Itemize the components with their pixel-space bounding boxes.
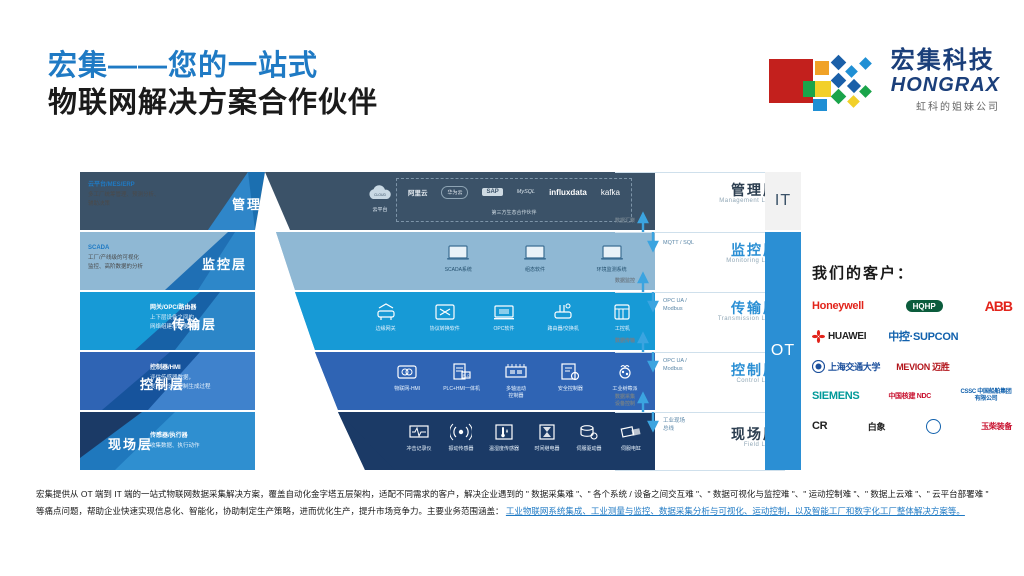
- partner-mysql: MySQL: [517, 189, 535, 195]
- partner-box-label: 第三方生态合作伙伴: [397, 209, 631, 216]
- connector-down-label: OPC UA / Modbus: [663, 298, 687, 313]
- control-item: 多轴运动 控制器: [489, 361, 543, 400]
- footer-text-part2: 等痛点问题，帮助企业快速实现信息化、智能化，协助制定生产策略，进而优化生产，提升…: [36, 506, 504, 516]
- page-title-line2: 物联网解决方案合作伙伴: [48, 84, 378, 122]
- customer-logo-row: SIEMENS 中国核建 NDC CSSC 中国船舶集团有限公司: [812, 387, 1012, 405]
- partner-sap: SAP: [482, 188, 502, 196]
- field-caption: 冲击记录仪: [407, 446, 432, 453]
- customer-logo-row: CR 白象 航天 玉柴装备: [812, 417, 1012, 435]
- transmission-item: 边缘网关: [358, 301, 414, 333]
- tier-desc-body: 收集数据、执行动作: [150, 442, 254, 451]
- customer-logo-cssc: CSSC 中国船舶集团有限公司: [960, 387, 1012, 405]
- tier-label-management: 管理层: [232, 194, 277, 213]
- tier-label-monitoring: 监控层: [202, 254, 247, 273]
- customer-logo-row: Honeywell HQHP ABB: [812, 297, 1012, 315]
- control-caption: 多轴运动 控制器: [506, 386, 526, 400]
- transmission-item: OPC软件: [476, 301, 532, 333]
- control-caption: 安全控制器: [558, 386, 583, 393]
- plc-icon: PLC: [449, 361, 475, 383]
- partner-huaweicloud: 华为云: [441, 186, 468, 199]
- footer-link[interactable]: 工业物联网系统集成、工业测量与监控、数据采集分析与可视化、运动控制，以及智能工厂…: [506, 506, 965, 516]
- control-caption: PLC+HMI一体机: [443, 386, 480, 393]
- tier-label-transmission: 传输层: [172, 314, 217, 333]
- control-item: PLC PLC+HMI一体机: [434, 361, 488, 393]
- logo-mark-icon: [769, 55, 879, 107]
- customers-title: 我们的客户：: [812, 262, 1012, 283]
- opc-software-icon: [491, 301, 517, 323]
- tier-desc-body: 多工厂统筹管理、预测分析、 辅助决策: [88, 191, 234, 208]
- customers-panel: 我们的客户： Honeywell HQHP ABB HUAWEI 中控·SUPC…: [812, 262, 1012, 447]
- logo-text: 宏集科技 HONGRAX 虹科的姐妹公司: [891, 48, 1000, 113]
- customer-logo-cr: CR: [812, 417, 827, 435]
- cloud-icon: CLOUD: [367, 182, 393, 204]
- customer-logo-row: 上海交通大学 MEVION 迈胜: [812, 357, 1012, 375]
- laptop-icon: [445, 242, 471, 264]
- customer-logo-hqhp: HQHP: [906, 297, 943, 315]
- field-item: 振动传感器: [440, 421, 482, 453]
- connector-up-label: 数据汇聚: [615, 218, 635, 225]
- control-caption: 物联网-HMI: [394, 386, 420, 393]
- connector-up-label: 数据监控: [615, 278, 635, 285]
- transmission-caption: 协议转换软件: [430, 326, 460, 333]
- brand-name-en: HONGRAX: [891, 74, 1000, 97]
- tier-desc-title: SCADA: [88, 244, 234, 253]
- protocol-convert-icon: [432, 301, 458, 323]
- control-item: 安全控制器: [543, 361, 597, 393]
- connector-arrows: [615, 172, 785, 472]
- domain-ot: OT: [765, 232, 801, 470]
- partner-influxdata: influxdata: [549, 188, 587, 197]
- page-header: 宏集——您的一站式 物联网解决方案合作伙伴 宏集科技 HONGRAX 虹科的姐妹…: [0, 0, 1024, 140]
- field-caption: 伺服驱动器: [576, 446, 601, 453]
- time-relay-icon: [534, 421, 560, 443]
- transmission-caption: 边缘网关: [376, 326, 396, 333]
- customer-logo-row: HUAWEI 中控·SUPCON: [812, 327, 1012, 345]
- monitoring-caption: SCADA系统: [445, 267, 472, 274]
- company-logo: 宏集科技 HONGRAX 虹科的姐妹公司: [769, 48, 1000, 113]
- transmission-caption: 路由器/交换机: [547, 326, 578, 333]
- field-caption: 温湿度传感器: [489, 446, 519, 453]
- monitoring-item: 组态软件: [507, 242, 563, 274]
- customer-logo-baixiang: 白象: [868, 417, 885, 435]
- pyramid-tier-field: 传感器/执行器 收集数据、执行动作 现场层 冲击记录仪 振动传感器: [80, 412, 655, 470]
- tier-desc-title: 云平台/MES/ERP: [88, 181, 234, 190]
- transmission-item: 路由器/交换机: [535, 301, 591, 333]
- customer-logo-mevion: MEVION 迈胜: [896, 357, 949, 375]
- sjtu-seal-icon: [812, 360, 825, 373]
- motion-controller-icon: [503, 361, 529, 383]
- pyramid-tier-transmission: 网关/OPC/路由器 上下层设备之间的 网络组建和数据传输 传输层 边缘网关 协…: [80, 292, 655, 350]
- footer-text-part1: 宏集提供从 OT 端到 IT 端的一站式物联网数据采集解决方案，覆盖自动化金字塔…: [36, 489, 989, 499]
- cloud-caption: 云平台: [372, 207, 387, 214]
- monitoring-item: SCADA系统: [430, 242, 486, 274]
- transmission-icon-row: 边缘网关 协议转换软件 OPC软件 路由器/交换机: [356, 301, 652, 333]
- servo-drive-icon: [576, 421, 602, 443]
- control-item: 物联网-HMI: [380, 361, 434, 393]
- svg-text:PLC: PLC: [462, 374, 469, 378]
- hmi-icon: [394, 361, 420, 383]
- field-caption: 振动传感器: [449, 446, 474, 453]
- laptop-icon: [522, 242, 548, 264]
- monitoring-caption: 组态软件: [525, 267, 545, 274]
- safety-controller-icon: [557, 361, 583, 383]
- vibration-sensor-icon: [448, 421, 474, 443]
- domain-it: IT: [765, 172, 801, 230]
- customer-logo-ndc: 中国核建 NDC: [888, 387, 931, 405]
- pyramid-tier-monitoring: SCADA 工厂/产线级的可视化 监控、高阶数据的分析 监控层 SCADA系统 …: [80, 232, 655, 290]
- field-item: 温湿度传感器: [482, 421, 526, 453]
- pyramid-tier-management: 云平台/MES/ERP 多工厂统筹管理、预测分析、 辅助决策 管理层 CLOUD…: [80, 172, 655, 230]
- title-block: 宏集——您的一站式 物联网解决方案合作伙伴: [48, 48, 378, 122]
- field-item: 伺服驱动器: [568, 421, 610, 453]
- customer-logo-siemens: SIEMENS: [812, 387, 859, 405]
- partner-box: 阿里云 华为云 SAP MySQL influxdata kafka 第三方生态…: [396, 178, 632, 222]
- connector-down-label: MQTT / SQL: [663, 240, 694, 248]
- customer-logo-supcon: 中控·SUPCON: [888, 327, 958, 345]
- tier-label-field: 现场层: [108, 434, 153, 453]
- field-item: 冲击记录仪: [398, 421, 440, 453]
- tier-desc-title: 网关/OPC/路由器: [150, 304, 248, 313]
- layer-column: 管理层 Management Layer 监控层 Monitoring Laye…: [615, 172, 785, 472]
- control-icon-row: 物联网-HMI PLC PLC+HMI一体机 多轴运动 控制器 安全控制器: [380, 361, 652, 400]
- field-icon-row: 冲击记录仪 振动传感器 温湿度传感器 时间继电器: [398, 421, 652, 453]
- transmission-caption: OPC软件: [494, 326, 515, 333]
- connector-down-label: OPC UA / Modbus: [663, 358, 687, 373]
- footer-description: 宏集提供从 OT 端到 IT 端的一站式物联网数据采集解决方案，覆盖自动化金字塔…: [36, 486, 991, 520]
- temp-humidity-sensor-icon: [491, 421, 517, 443]
- customer-logo-aerospace: 航天: [926, 417, 941, 435]
- router-icon: [550, 301, 576, 323]
- customer-logo-sjtu: 上海交通大学: [812, 357, 880, 375]
- tier-desc-field: 传感器/执行器 收集数据、执行动作: [142, 426, 260, 455]
- page-title-line1: 宏集——您的一站式: [48, 48, 378, 84]
- connector-up-label: 数据采集 设备控制: [615, 394, 635, 408]
- customer-logo-yuchai: 玉柴装备: [981, 417, 1012, 435]
- gateway-icon: [373, 301, 399, 323]
- tier-desc-title: 控制器/HMI: [150, 364, 254, 373]
- pyramid-tier-control: 控制器/HMI 评估传感器数据， 发布命令、控制生成过程 控制层 物联网-HMI…: [80, 352, 655, 410]
- tier-desc-management: 云平台/MES/ERP 多工厂统筹管理、预测分析、 辅助决策: [80, 175, 240, 212]
- brand-subtitle: 虹科的姐妹公司: [891, 98, 1000, 113]
- it-ot-column: IT OT: [765, 172, 801, 472]
- shock-recorder-icon: [406, 421, 432, 443]
- connector-down-label: 工业现场 总线: [663, 418, 685, 433]
- field-caption: 时间继电器: [534, 446, 559, 453]
- customer-logo-honeywell: Honeywell: [812, 297, 864, 315]
- customer-logo-abb: ABB: [985, 297, 1012, 315]
- svg-text:CLOUD: CLOUD: [374, 193, 386, 197]
- tier-label-control: 控制层: [140, 374, 185, 393]
- transmission-item: 协议转换软件: [417, 301, 473, 333]
- huawei-flower-icon: [812, 330, 825, 343]
- connector-up-label: 数据传输: [615, 338, 635, 345]
- field-item: 时间继电器: [526, 421, 568, 453]
- tier-desc-title: 传感器/执行器: [150, 432, 254, 441]
- partner-aliyun: 阿里云: [408, 187, 428, 197]
- brand-name-cn: 宏集科技: [891, 48, 1000, 74]
- customer-logo-huawei: HUAWEI: [812, 327, 866, 345]
